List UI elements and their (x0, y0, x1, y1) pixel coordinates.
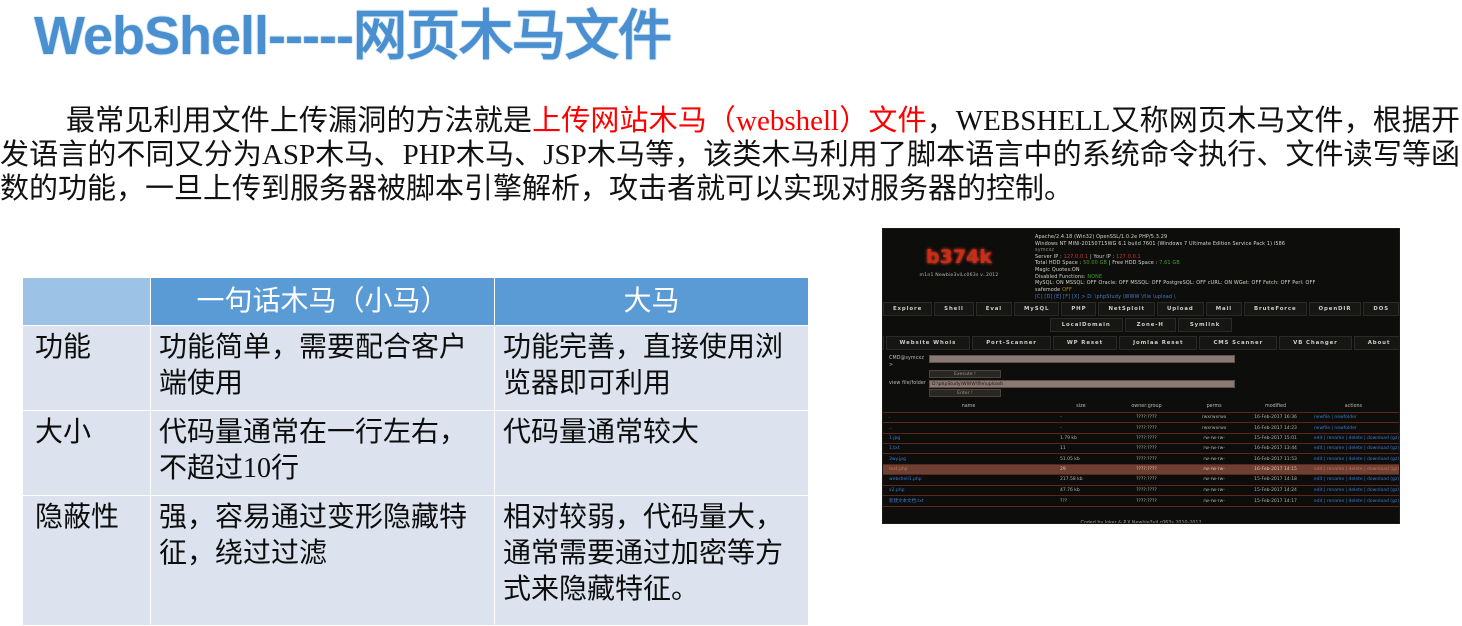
shell-nav-tertiary: SQLI Scan Website Whois Port-Scanner WP … (883, 335, 1399, 351)
disabled-functions-label: Disabled Functions: (1035, 274, 1086, 280)
safemode-value: OFF (1062, 287, 1072, 293)
file-perms-cell: rwxrwxrwx (1185, 423, 1243, 433)
nav-mail[interactable]: Mail (1206, 302, 1242, 316)
view-line: view file/folder D:\phpStudy\WWW\file\up… (889, 380, 1399, 388)
nav-bruteforce[interactable]: BruteForce (1244, 302, 1307, 316)
file-name-cell[interactable]: 新建文本文档.txt (883, 495, 1054, 506)
table-row: 大小 代码量通常在一行左右，不超过10行 代码量通常较大 (23, 411, 809, 496)
file-modified-cell: 15-Feb-2017 14:18 (1243, 475, 1308, 485)
info-user: symcxz (1035, 247, 1399, 254)
file-size-cell: 217.58 kb (1054, 475, 1108, 485)
file-owner-cell: ????:???? (1108, 433, 1185, 443)
file-action-links[interactable]: newfile | newfolder (1314, 415, 1357, 420)
file-perms-cell: rw-rw-rw- (1185, 485, 1243, 495)
hdd-free-label: | Free HDD Space : (1109, 260, 1158, 266)
your-ip-value: 127.0.0.1 (1116, 254, 1141, 260)
file-action-links[interactable]: edit | rename | delete | download (gz) (1314, 477, 1399, 482)
file-size-cell: 51.05 kb (1054, 454, 1108, 464)
file-action-links[interactable]: edit | rename | delete | download (gz) (1314, 467, 1399, 472)
nav-dos[interactable]: DOS (1363, 302, 1399, 316)
file-table-body: .-????:????rwxrwxrwx16-Feb-2017 16:36new… (883, 412, 1399, 506)
file-table-header-row: name size owner:group perms modified act… (883, 402, 1399, 413)
file-size-cell: ??? (1054, 495, 1108, 506)
shell-system-info: Apache/2.4.18 (Win32) OpenSSL/1.0.2e PHP… (1035, 232, 1399, 301)
file-modified-cell: 15-Feb-2017 14:24 (1243, 485, 1308, 495)
shell-nav-primary: Explore Shell Eval MySQL PHP NetSploit U… (883, 301, 1399, 317)
col-modified[interactable]: modified (1243, 402, 1308, 413)
paragraph-part-1: 最常见利用文件上传漏洞的方法就是 (66, 105, 532, 137)
disabled-functions-value: NONE (1087, 274, 1102, 280)
file-actions-cell[interactable]: edit | rename | delete | download (gz) (1308, 444, 1399, 454)
shell-footer: Coded by Joker & P.X Newbie3viLc063s 201… (883, 507, 1399, 524)
file-row[interactable]: test.php29????:????rw-rw-rw-16-Feb-2017 … (883, 464, 1399, 474)
file-row[interactable]: x2.php47.76 kb????:????rw-rw-rw-15-Feb-2… (883, 485, 1399, 495)
file-action-links[interactable]: edit | rename | delete | download (gz) (1314, 488, 1399, 493)
file-name-link[interactable]: x2.php (889, 488, 905, 493)
file-row[interactable]: 1.jpg1.79 kb????:????rw-rw-rw-15-Feb-201… (883, 433, 1399, 443)
file-action-links[interactable]: edit | rename | delete | download (gz) (1314, 446, 1399, 451)
paragraph-highlight: 上传网站木马（webshell）文件 (532, 105, 927, 137)
file-actions-cell[interactable]: edit | rename | delete | download (gz) (1308, 454, 1399, 464)
file-owner-cell: ????:???? (1108, 444, 1185, 454)
nav-about[interactable]: About (1354, 336, 1400, 350)
file-row[interactable]: .-????:????rwxrwxrwx16-Feb-2017 16:36new… (883, 412, 1399, 422)
safemode-label: safemode (1035, 287, 1060, 293)
nav-upload[interactable]: Upload (1157, 302, 1204, 316)
file-owner-cell: ????:???? (1108, 475, 1185, 485)
file-owner-cell: ????:???? (1108, 412, 1185, 422)
file-size-cell: 11 (1054, 444, 1108, 454)
nav-opendir[interactable]: OpenDIR (1309, 302, 1362, 316)
info-hdd: Total HDD Space : 50.00 GB | Free HDD Sp… (1035, 260, 1399, 267)
page-title: WebShell-----网页木马文件 (34, 4, 671, 68)
shell-nav-secondary: LocalDomain Zone-H Symlink (883, 317, 1399, 333)
nav-website-whois[interactable]: Website Whois (886, 336, 971, 350)
drive-links[interactable]: [C] [D] [E] [F] [X] (1035, 294, 1080, 300)
file-name-link[interactable]: 1.jpg (889, 436, 900, 441)
file-modified-cell: 16-Feb-2017 14:23 (1243, 423, 1308, 433)
table-header-row: 一句话木马（小马） 大马 (23, 278, 809, 326)
file-actions-cell[interactable]: edit | rename | delete | download (gz) (1308, 495, 1399, 506)
hdd-total-label: Total HDD Space : (1035, 260, 1081, 266)
nav-mysql[interactable]: MySQL (1014, 302, 1059, 316)
file-owner-cell: ????:???? (1108, 423, 1185, 433)
nav-localdomain[interactable]: LocalDomain (1050, 318, 1123, 332)
nav-php[interactable]: PHP (1061, 302, 1096, 316)
file-modified-cell: 16-Feb-2017 14:15 (1243, 464, 1308, 474)
file-size-cell: - (1054, 423, 1108, 433)
file-actions-cell[interactable]: edit | rename | delete | download (gz) (1308, 475, 1399, 485)
file-modified-cell: 16-Feb-2017 13:44 (1243, 444, 1308, 454)
file-name-cell[interactable]: webshell1.php (883, 475, 1054, 485)
file-row[interactable]: ..-????:????rwxrwxrwx16-Feb-2017 14:23ne… (883, 423, 1399, 433)
file-row[interactable]: 新建文本文档.txt???????:????rw-rw-rw-15-Feb-20… (883, 495, 1399, 506)
server-ip-label: Server IP : (1035, 254, 1062, 260)
file-name-link[interactable]: webshell1.php (889, 477, 922, 482)
file-actions-cell[interactable]: edit | rename | delete | download (gz) (1308, 433, 1399, 443)
table-row: 隐蔽性 强，容易通过变形隐藏特征，绕过过滤 相对较弱，代码量大，通常需要通过加密… (23, 496, 809, 626)
file-action-links[interactable]: edit | rename | delete | download (gz) (1314, 457, 1399, 462)
info-os: Windows NT MINI-20150715WG 6.1 build 760… (1035, 241, 1399, 248)
file-size-cell: - (1054, 412, 1108, 422)
file-row[interactable]: 1.txt11????:????rw-rw-rw-16-Feb-2017 13:… (883, 444, 1399, 454)
info-apache: Apache/2.4.18 (Win32) OpenSSL/1.0.2e PHP… (1035, 234, 1399, 241)
shell-header: b374k m1n1 Newbie3viLc063s v..2012 Apach… (883, 229, 1399, 301)
file-name-link: .. (889, 426, 892, 431)
file-owner-cell: ????:???? (1108, 454, 1185, 464)
file-owner-cell: ????:???? (1108, 495, 1185, 506)
hdd-total-value: 50.00 GB (1083, 260, 1107, 266)
hdd-free-value: 7.61 GB (1159, 260, 1180, 266)
row-label-stealth: 隐蔽性 (23, 496, 151, 626)
file-modified-cell: 15-Feb-2017 14:17 (1243, 495, 1308, 506)
file-perms-cell: rwxrwxrwx (1185, 412, 1243, 422)
file-actions-cell[interactable]: newfile | newfolder (1308, 423, 1399, 433)
info-disabled-functions: Disabled Functions: NONE (1035, 274, 1399, 281)
enter-button-wrap: Enter ! (889, 389, 1399, 397)
cell-function-small: 功能简单，需要配合客户端使用 (151, 326, 495, 411)
file-size-cell: 1.79 kb (1054, 433, 1108, 443)
file-action-links[interactable]: edit | rename | delete | download (gz) (1314, 499, 1399, 504)
b374k-logo: b374k (883, 246, 1035, 268)
cell-size-small: 代码量通常在一行左右，不超过10行 (151, 411, 495, 496)
file-actions-cell[interactable]: edit | rename | delete | download (gz) (1308, 485, 1399, 495)
col-name[interactable]: name (883, 402, 1054, 413)
col-actions: actions (1308, 402, 1399, 413)
info-safemode: safemode OFF (1035, 287, 1399, 294)
path-breadcrumb[interactable]: > D: \phpStudy \WWW \file \upload \ (1081, 294, 1175, 300)
execute-button-wrap: Execute ! (889, 370, 1399, 378)
file-action-links[interactable]: newfile | newfolder (1314, 426, 1357, 431)
file-name-cell[interactable]: .. (883, 423, 1054, 433)
file-name-link[interactable]: 3wy.jpg (889, 457, 906, 462)
table-header-corner (23, 278, 151, 326)
file-name-link[interactable]: 1.txt (889, 446, 900, 451)
cmd-input[interactable] (929, 355, 1235, 363)
nav-symlink[interactable]: Symlink (1178, 318, 1232, 332)
file-name-cell[interactable]: x2.php (883, 485, 1054, 495)
footer-credit-line-1: Coded by Joker & P.X Newbie3viLc063s 201… (883, 520, 1399, 524)
file-name-cell[interactable]: 1.jpg (883, 433, 1054, 443)
view-folder-label: view file/folder (889, 380, 929, 387)
your-ip-label: | Your IP : (1090, 254, 1114, 260)
file-size-cell: 29 (1054, 464, 1108, 474)
view-folder-input[interactable]: D:\phpStudy\WWW\file\upload\ (929, 380, 1235, 388)
file-perms-cell: rw-rw-rw- (1185, 475, 1243, 485)
file-row[interactable]: webshell1.php217.58 kb????:????rw-rw-rw-… (883, 475, 1399, 485)
nav-netsploit[interactable]: NetSploit (1098, 302, 1155, 316)
nav-shell[interactable]: Shell (934, 302, 974, 316)
info-ip: Server IP : 127.0.0.1 | Your IP : 127.0.… (1035, 254, 1399, 261)
file-name-cell[interactable]: . (883, 412, 1054, 422)
cell-stealth-small: 强，容易通过变形隐藏特征，绕过过滤 (151, 496, 495, 626)
execute-button[interactable]: Execute ! (929, 370, 1001, 378)
server-ip-value: 127.0.0.1 (1064, 254, 1089, 260)
file-name-link[interactable]: test.php (889, 467, 908, 472)
file-name-cell[interactable]: test.php (883, 464, 1054, 474)
file-name-cell[interactable]: 3wy.jpg (883, 454, 1054, 464)
file-actions-cell[interactable]: edit | rename | delete | download (gz) (1308, 464, 1399, 474)
row-label-size: 大小 (23, 411, 151, 496)
info-modules: MySQL: ON MSSQL: OFF Oracle: OFF MSSQL: … (1035, 280, 1399, 287)
cell-stealth-big: 相对较弱，代码量大，通常需要通过加密等方式来隐藏特征。 (495, 496, 809, 626)
table-row: 功能 功能简单，需要配合客户端使用 功能完善，直接使用浏览器即可利用 (23, 326, 809, 411)
body-paragraph: 最常见利用文件上传漏洞的方法就是上传网站木马（webshell）文件，WEBSH… (0, 104, 1460, 206)
file-modified-cell: 16-Feb-2017 16:36 (1243, 412, 1308, 422)
row-label-function: 功能 (23, 326, 151, 411)
nav-explore[interactable]: Explore (883, 302, 932, 316)
shell-brand: b374k m1n1 Newbie3viLc063s v..2012 (883, 232, 1035, 301)
nav-port-scanner[interactable]: Port-Scanner (972, 336, 1051, 350)
comparison-table: 一句话木马（小马） 大马 功能 功能简单，需要配合客户端使用 功能完善，直接使用… (22, 277, 809, 626)
nav-zone-h[interactable]: Zone-H (1125, 318, 1176, 332)
file-owner-cell: ????:???? (1108, 464, 1185, 474)
table-header-big-horse: 大马 (495, 278, 809, 326)
file-size-cell: 47.76 kb (1054, 485, 1108, 495)
file-modified-cell: 16-Feb-2017 11:53 (1243, 454, 1308, 464)
file-name-link[interactable]: 新建文本文档.txt (889, 499, 924, 504)
file-row[interactable]: 3wy.jpg51.05 kb????:????rw-rw-rw-16-Feb-… (883, 454, 1399, 464)
cell-function-big: 功能完善，直接使用浏览器即可利用 (495, 326, 809, 411)
file-perms-cell: rw-rw-rw- (1185, 495, 1243, 506)
info-magic-quotes: Magic Quotes:ON (1035, 267, 1399, 274)
file-perms-cell: rw-rw-rw- (1185, 444, 1243, 454)
col-perms[interactable]: perms (1185, 402, 1243, 413)
nav-eval[interactable]: Eval (976, 302, 1012, 316)
file-action-links[interactable]: edit | rename | delete | download (gz) (1314, 436, 1399, 441)
nav-cms-scanner[interactable]: CMS Scanner (1199, 336, 1277, 350)
col-size[interactable]: size (1054, 402, 1108, 413)
cell-size-big: 代码量通常较大 (495, 411, 809, 496)
table-header-small-horse: 一句话木马（小马） (151, 278, 495, 326)
file-modified-cell: 15-Feb-2017 15:01 (1243, 433, 1308, 443)
col-owner-group[interactable]: owner:group (1108, 402, 1185, 413)
file-name-link: . (889, 415, 890, 420)
nav-vb-changer[interactable]: VB Changer (1279, 336, 1352, 350)
file-perms-cell: rw-rw-rw- (1185, 464, 1243, 474)
file-name-cell[interactable]: 1.txt (883, 444, 1054, 454)
file-perms-cell: rw-rw-rw- (1185, 454, 1243, 464)
nav-jomlaa-reset[interactable]: Jomlaa Reset (1119, 336, 1197, 350)
enter-button[interactable]: Enter ! (929, 389, 1001, 397)
webshell-screenshot: b374k m1n1 Newbie3viLc063s v..2012 Apach… (882, 228, 1400, 524)
shell-brand-subtitle: m1n1 Newbie3viLc063s v..2012 (883, 273, 1035, 278)
shell-command-area: CMD@symcxz > Execute ! view file/folder … (883, 351, 1399, 401)
nav-wp-reset[interactable]: WP Reset (1053, 336, 1117, 350)
file-owner-cell: ????:???? (1108, 485, 1185, 495)
cmd-label: CMD@symcxz > (889, 355, 929, 369)
file-listing-table: name size owner:group perms modified act… (883, 402, 1399, 507)
nav-sqli-scan[interactable]: SQLI Scan (882, 336, 884, 350)
info-drive-path: [C] [D] [E] [F] [X] > D: \phpStudy \WWW … (1035, 293, 1399, 301)
file-perms-cell: rw-rw-rw- (1185, 433, 1243, 443)
cmd-line: CMD@symcxz > (889, 355, 1399, 369)
file-actions-cell[interactable]: newfile | newfolder (1308, 412, 1399, 422)
